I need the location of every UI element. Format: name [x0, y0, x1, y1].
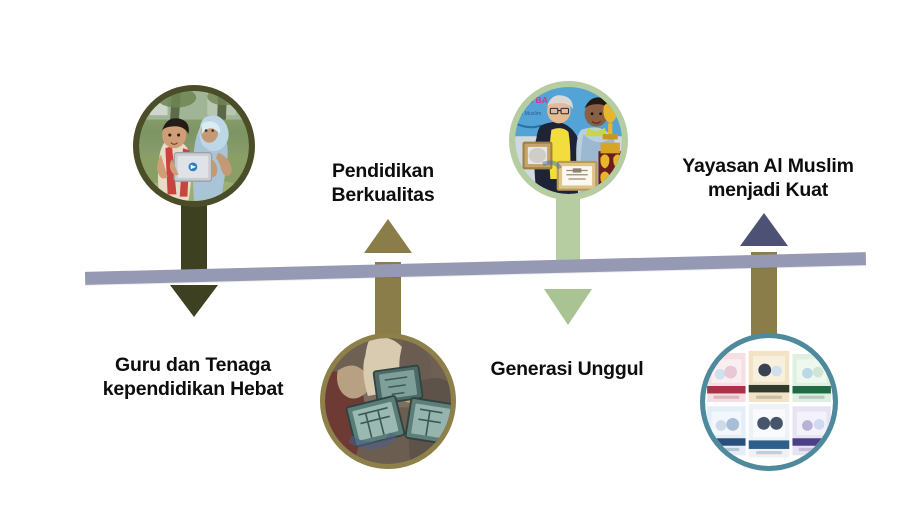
label-yayasan: Yayasan Al Muslim menjadi Kuat	[664, 155, 872, 203]
marker-triangle-up-yayasan	[740, 213, 788, 246]
photo-pendidikan-image	[325, 338, 451, 464]
photo-generasi: bih BA Al Muslim	[509, 81, 628, 200]
label-pendidikan: Pendidikan Berkualitas	[302, 160, 464, 208]
photo-yayasan-image	[705, 338, 833, 466]
marker-triangle-up-pendidikan	[364, 219, 412, 253]
label-generasi: Generasi Unggul	[470, 358, 664, 382]
photo-guru	[133, 85, 255, 207]
photo-yayasan	[700, 333, 838, 471]
photo-guru-image	[139, 91, 249, 201]
diagram-canvas: Guru dan Tenaga kependidikan Hebat Pendi…	[0, 0, 921, 529]
label-guru: Guru dan Tenaga kependidikan Hebat	[85, 354, 301, 402]
svg-text:bih BA: bih BA	[520, 95, 548, 105]
photo-pendidikan	[320, 333, 456, 469]
photo-generasi-image: bih BA Al Muslim	[515, 87, 622, 194]
marker-triangle-down-generasi	[544, 289, 592, 325]
svg-text:Al Muslim: Al Muslim	[518, 111, 542, 117]
marker-triangle-down-guru	[170, 285, 218, 317]
